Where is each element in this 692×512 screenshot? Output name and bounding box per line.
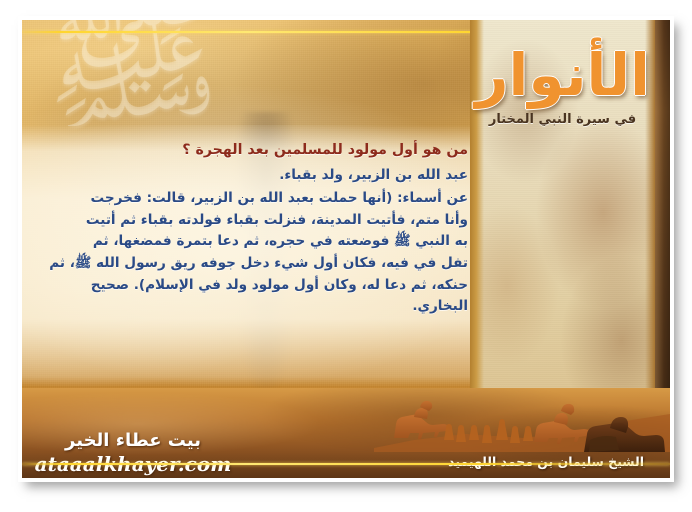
- poster-canvas: ﷺ من هو أول مولود للمسلمين بعد الهجرة ؟ …: [22, 20, 670, 478]
- narration-line-2: وأنا متم، فأتيت المدينة، فنزلت بقباء فول…: [30, 210, 468, 232]
- page-subtitle: في سيرة النبي المختار: [470, 112, 655, 127]
- author-credit: الشيخ سليمان بن محمد اللهيميد: [448, 454, 644, 469]
- poster-page: ﷺ من هو أول مولود للمسلمين بعد الهجرة ؟ …: [0, 0, 692, 512]
- narration-line-5: حنكه، ثم دعا له، وكان أول مولود ولد في ا…: [30, 275, 468, 297]
- narration-line-4: تفل في فيه، فكان أول شيء دخل جوفه ريق رس…: [30, 253, 468, 275]
- answer-line: عبد الله بن الزبير، ولد بقباء.: [30, 165, 468, 187]
- site-logo[interactable]: بيت عطاء الخير ataaalkhayer.com: [28, 430, 238, 476]
- content-text-block: من هو أول مولود للمسلمين بعد الهجرة ؟ عب…: [30, 140, 480, 318]
- narration-line-1: عن أسماء: (أنها حملت بعبد الله بن الزبير…: [30, 188, 468, 210]
- logo-arabic-text: بيت عطاء الخير: [28, 430, 238, 451]
- title-block: الأنوار في سيرة النبي المختار: [470, 42, 655, 127]
- narration-line-6: البخاري.: [30, 296, 468, 318]
- question-line: من هو أول مولود للمسلمين بعد الهجرة ؟: [30, 140, 468, 162]
- camel-caravan-icon: [374, 390, 670, 452]
- page-title: الأنوار: [470, 42, 655, 108]
- narration-line-3: به النبي ﷺ فوضعته في حجره، ثم دعا بتمرة …: [30, 231, 468, 253]
- gold-rule-bottom: [22, 463, 670, 465]
